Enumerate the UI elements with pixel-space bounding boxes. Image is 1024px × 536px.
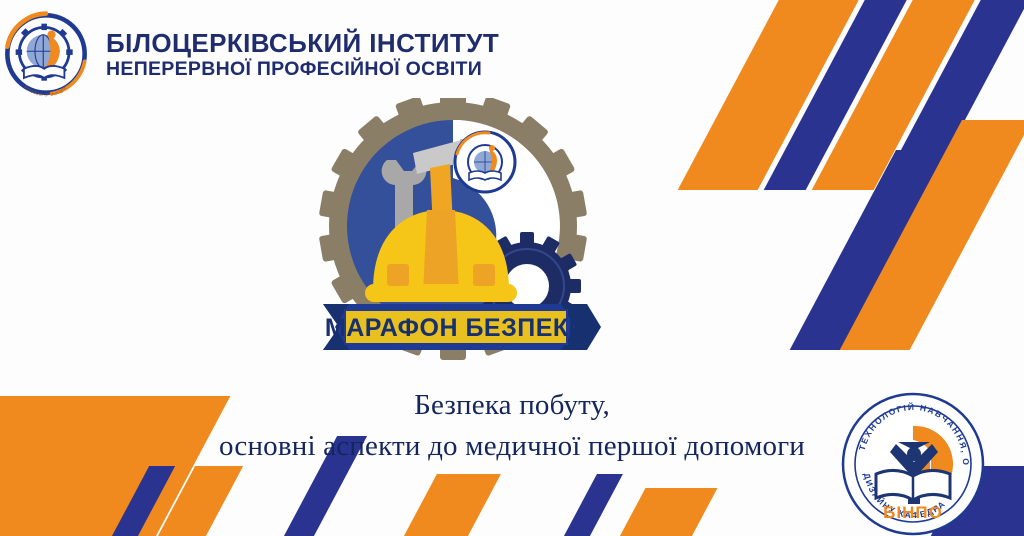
marathon-of-safety-emblem: МАРАФОН БЕЗПЕКИ	[305, 98, 605, 366]
institute-name-line2: НЕПЕРЕРВНОЇ ПРОФЕСІЙНОЇ ОСВІТИ	[106, 58, 499, 80]
institute-name-line1: БІЛОЦЕРКІВСЬКИЙ ІНСТИТУТ	[106, 29, 499, 58]
institute-name-block: БІЛОЦЕРКІВСЬКИЙ ІНСТИТУТ НЕПЕРЕРВНОЇ ПРО…	[106, 27, 499, 81]
orange-bar-b2	[388, 474, 501, 536]
marathon-banner-text: МАРАФОН БЕЗПЕКИ	[325, 314, 587, 342]
poster-canvas: Freedom of thought БІЛОЦЕРКІВСЬКИЙ ІНСТИ…	[0, 0, 1024, 536]
bcinpo-institute-logo: Freedom of thought	[0, 8, 92, 100]
seal-center-text: БІНПО	[883, 503, 943, 522]
orange-bar-b3	[604, 488, 717, 536]
institute-mini-logo	[455, 132, 515, 192]
binpo-department-seal: ТЕХНОЛОГІЙ НАВЧАННЯ, ОХОРОНИ ПРАЦІ ТА ДИ…	[818, 392, 1008, 536]
navy-bar-b3	[548, 474, 623, 536]
institute-header: Freedom of thought БІЛОЦЕРКІВСЬКИЙ ІНСТИ…	[0, 8, 499, 100]
marathon-banner: МАРАФОН БЕЗПЕКИ	[323, 304, 601, 350]
